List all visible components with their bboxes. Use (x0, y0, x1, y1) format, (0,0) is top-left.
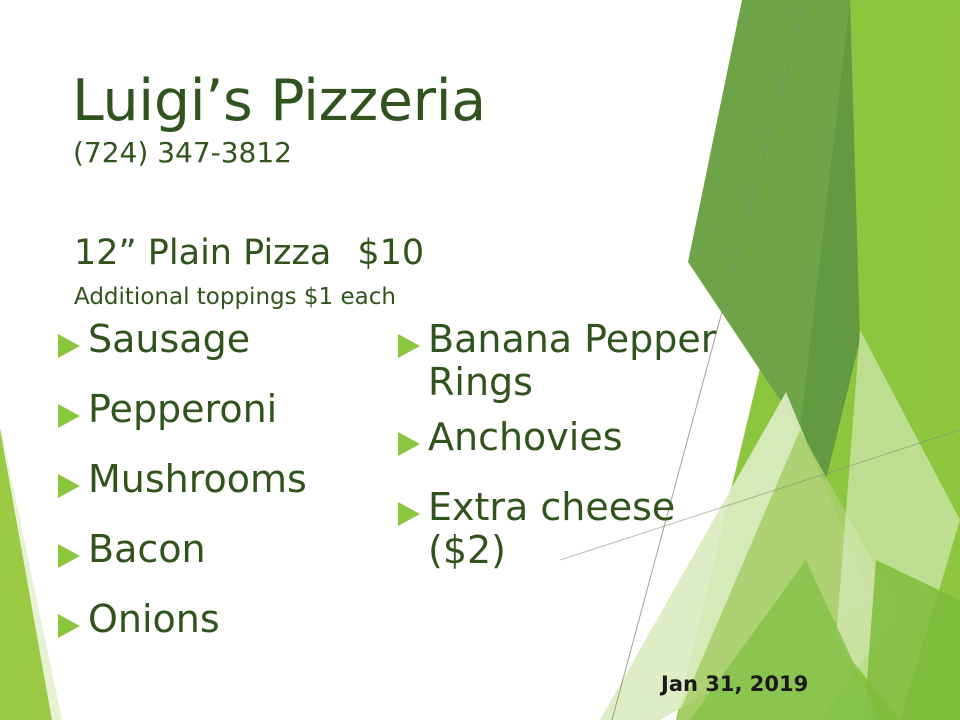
topping-label: Extra cheese ($2) (426, 486, 736, 572)
list-item: Anchovies (396, 416, 736, 474)
topping-label: Onions (86, 598, 220, 641)
triangle-right-icon (56, 528, 86, 570)
slide-canvas: Luigi’s Pizzeria (724) 347-3812 12” Plai… (0, 0, 960, 720)
triangle-right-icon (56, 318, 86, 360)
topping-label: Sausage (86, 318, 250, 361)
price-headline: 12” Plain Pizza$10 (74, 234, 424, 273)
list-item: Sausage (56, 318, 386, 376)
triangle-right-icon (56, 388, 86, 430)
list-item: Extra cheese ($2) (396, 486, 736, 572)
triangle-right-icon (56, 598, 86, 640)
triangle-right-icon (396, 486, 426, 528)
topping-label: Mushrooms (86, 458, 307, 501)
toppings-column-left: Sausage Pepperoni Mushrooms Bacon (56, 318, 386, 668)
list-item: Pepperoni (56, 388, 386, 446)
list-item: Onions (56, 598, 386, 656)
slide-date: Jan 31, 2019 (661, 673, 808, 696)
page-title: Luigi’s Pizzeria (72, 72, 486, 132)
phone-number: (724) 347-3812 (73, 138, 292, 169)
slide-content: Luigi’s Pizzeria (724) 347-3812 12” Plai… (0, 0, 960, 720)
topping-label: Pepperoni (86, 388, 277, 431)
list-item: Banana Pepper Rings (396, 318, 736, 404)
triangle-right-icon (56, 458, 86, 500)
topping-label: Anchovies (426, 416, 623, 459)
toppings-note: Additional toppings $1 each (74, 285, 396, 310)
price-value: $10 (357, 233, 424, 273)
toppings-column-right: Banana Pepper Rings Anchovies Extra chee… (396, 318, 736, 584)
triangle-right-icon (396, 318, 426, 360)
price-item-label: 12” Plain Pizza (74, 233, 331, 273)
topping-label: Banana Pepper Rings (426, 318, 736, 404)
triangle-right-icon (396, 416, 426, 458)
list-item: Mushrooms (56, 458, 386, 516)
topping-label: Bacon (86, 528, 206, 571)
list-item: Bacon (56, 528, 386, 586)
